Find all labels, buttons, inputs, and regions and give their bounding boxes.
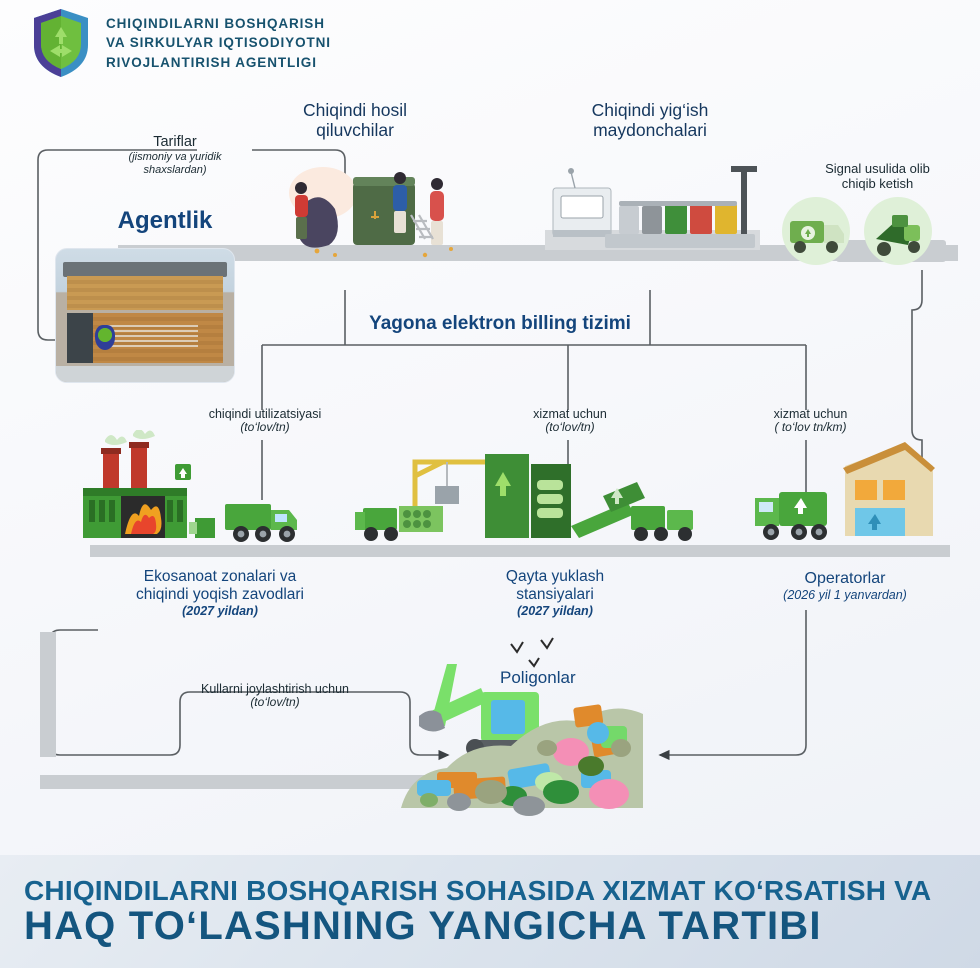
collection-points-illustration xyxy=(545,160,760,255)
signal-removal-line2: chiqib ketish xyxy=(842,176,914,191)
fee-service-line2: (to‘lov/tn) xyxy=(495,421,645,435)
banner-line2: HAQ TO‘LASHNING YANGICHA TARTIBI xyxy=(24,905,980,947)
header-title-line2: VA SIRKULYAR IQTISODIYOTNI xyxy=(106,33,331,52)
tariffs-label: Tariflar (jismoniy va yuridik shaxslarda… xyxy=(100,133,250,177)
road-curve-left xyxy=(40,632,56,757)
fee-transport-line1: xizmat uchun xyxy=(774,407,848,421)
operators-illustration xyxy=(755,440,935,555)
producers-label-line1: Chiqindi hosil xyxy=(303,100,407,120)
operators-label-text: Operatorlar xyxy=(805,570,886,587)
fee-utilization-line1: chiqindi utilizatsiyasi xyxy=(209,407,322,421)
producers-label-line2: qiluvchilar xyxy=(316,120,394,140)
collection-points-line2: maydonchalari xyxy=(593,120,707,140)
birds-icon xyxy=(511,638,553,666)
billing-system-title-text: Yagona elektron billing tizimi xyxy=(369,313,631,334)
tariffs-subtitle-2: shaxslardan) xyxy=(100,164,250,177)
fee-transport-label: xizmat uchun ( to‘lov tn/km) xyxy=(728,407,893,435)
agency-label: Agentlik xyxy=(85,207,245,235)
signal-vehicle-badge-truck xyxy=(780,195,852,267)
ash-fee-line2: (to‘lov/tn) xyxy=(160,696,390,710)
ecozone-plant-illustration xyxy=(75,430,315,555)
bottom-banner: CHIQINDILARNI BOSHQARISH SOHASIDA XIZMAT… xyxy=(0,855,980,968)
transfer-note: (2027 yildan) xyxy=(455,604,655,618)
agency-label-text: Agentlik xyxy=(118,207,213,234)
transfer-station-label: Qayta yuklash stansiyalari (2027 yildan) xyxy=(455,568,655,618)
operators-note: (2026 yil 1 yanvardan) xyxy=(730,588,960,602)
fee-service-line1: xizmat uchun xyxy=(533,407,607,421)
infographic-canvas: CHIQINDILARNI BOSHQARISH VA SIRKULYAR IQ… xyxy=(0,0,980,968)
signal-vehicle-badge-tricycle xyxy=(862,195,934,267)
ecozone-line1: Ekosanoat zonalari va xyxy=(144,568,297,585)
operators-label: Operatorlar (2026 yil 1 yanvardan) xyxy=(730,570,960,603)
collection-points-line1: Chiqindi yig‘ish xyxy=(592,100,709,120)
transfer-line1: Qayta yuklash xyxy=(506,568,604,585)
producers-label: Chiqindi hosil qiluvchilar xyxy=(265,100,445,140)
header-title-line3: RIVOJLANTIRISH AGENTLIGI xyxy=(106,53,331,72)
signal-removal-label: Signal usulida olib chiqib ketish xyxy=(790,162,965,192)
ash-fee-line1: Kullarni joylashtirish uchun xyxy=(201,682,349,696)
transfer-line2: stansiyalari xyxy=(516,586,594,603)
header-title: CHIQINDILARNI BOSHQARISH VA SIRKULYAR IQ… xyxy=(106,14,331,71)
road-bottom-left xyxy=(40,775,440,789)
banner-line1: CHIQINDILARNI BOSHQARISH SOHASIDA XIZMAT… xyxy=(24,876,980,905)
ecozone-line2: chiqindi yoqish zavodlari xyxy=(136,586,304,603)
tariffs-subtitle-1: (jismoniy va yuridik xyxy=(100,151,250,164)
ash-fee-label: Kullarni joylashtirish uchun (to‘lov/tn) xyxy=(160,682,390,710)
header: CHIQINDILARNI BOSHQARISH VA SIRKULYAR IQ… xyxy=(0,0,980,86)
landfill-illustration xyxy=(395,630,655,820)
fee-service-label: xizmat uchun (to‘lov/tn) xyxy=(495,407,645,435)
billing-system-title: Yagona elektron billing tizimi xyxy=(330,313,670,335)
ecozone-label: Ekosanoat zonalari va chiqindi yoqish za… xyxy=(95,568,345,618)
tariffs-title: Tariflar xyxy=(153,134,197,150)
fee-transport-line2: ( to‘lov tn/km) xyxy=(728,421,893,435)
collection-points-label: Chiqindi yig‘ish maydonchalari xyxy=(560,100,740,140)
ecozone-note: (2027 yildan) xyxy=(95,604,345,618)
signal-removal-line1: Signal usulida olib xyxy=(825,161,930,176)
waste-producers-illustration xyxy=(275,155,485,270)
shield-recycle-logo-icon xyxy=(30,7,92,79)
agency-building-photo xyxy=(55,248,235,383)
transfer-station-illustration xyxy=(355,440,705,555)
header-title-line1: CHIQINDILARNI BOSHQARISH xyxy=(106,14,331,33)
